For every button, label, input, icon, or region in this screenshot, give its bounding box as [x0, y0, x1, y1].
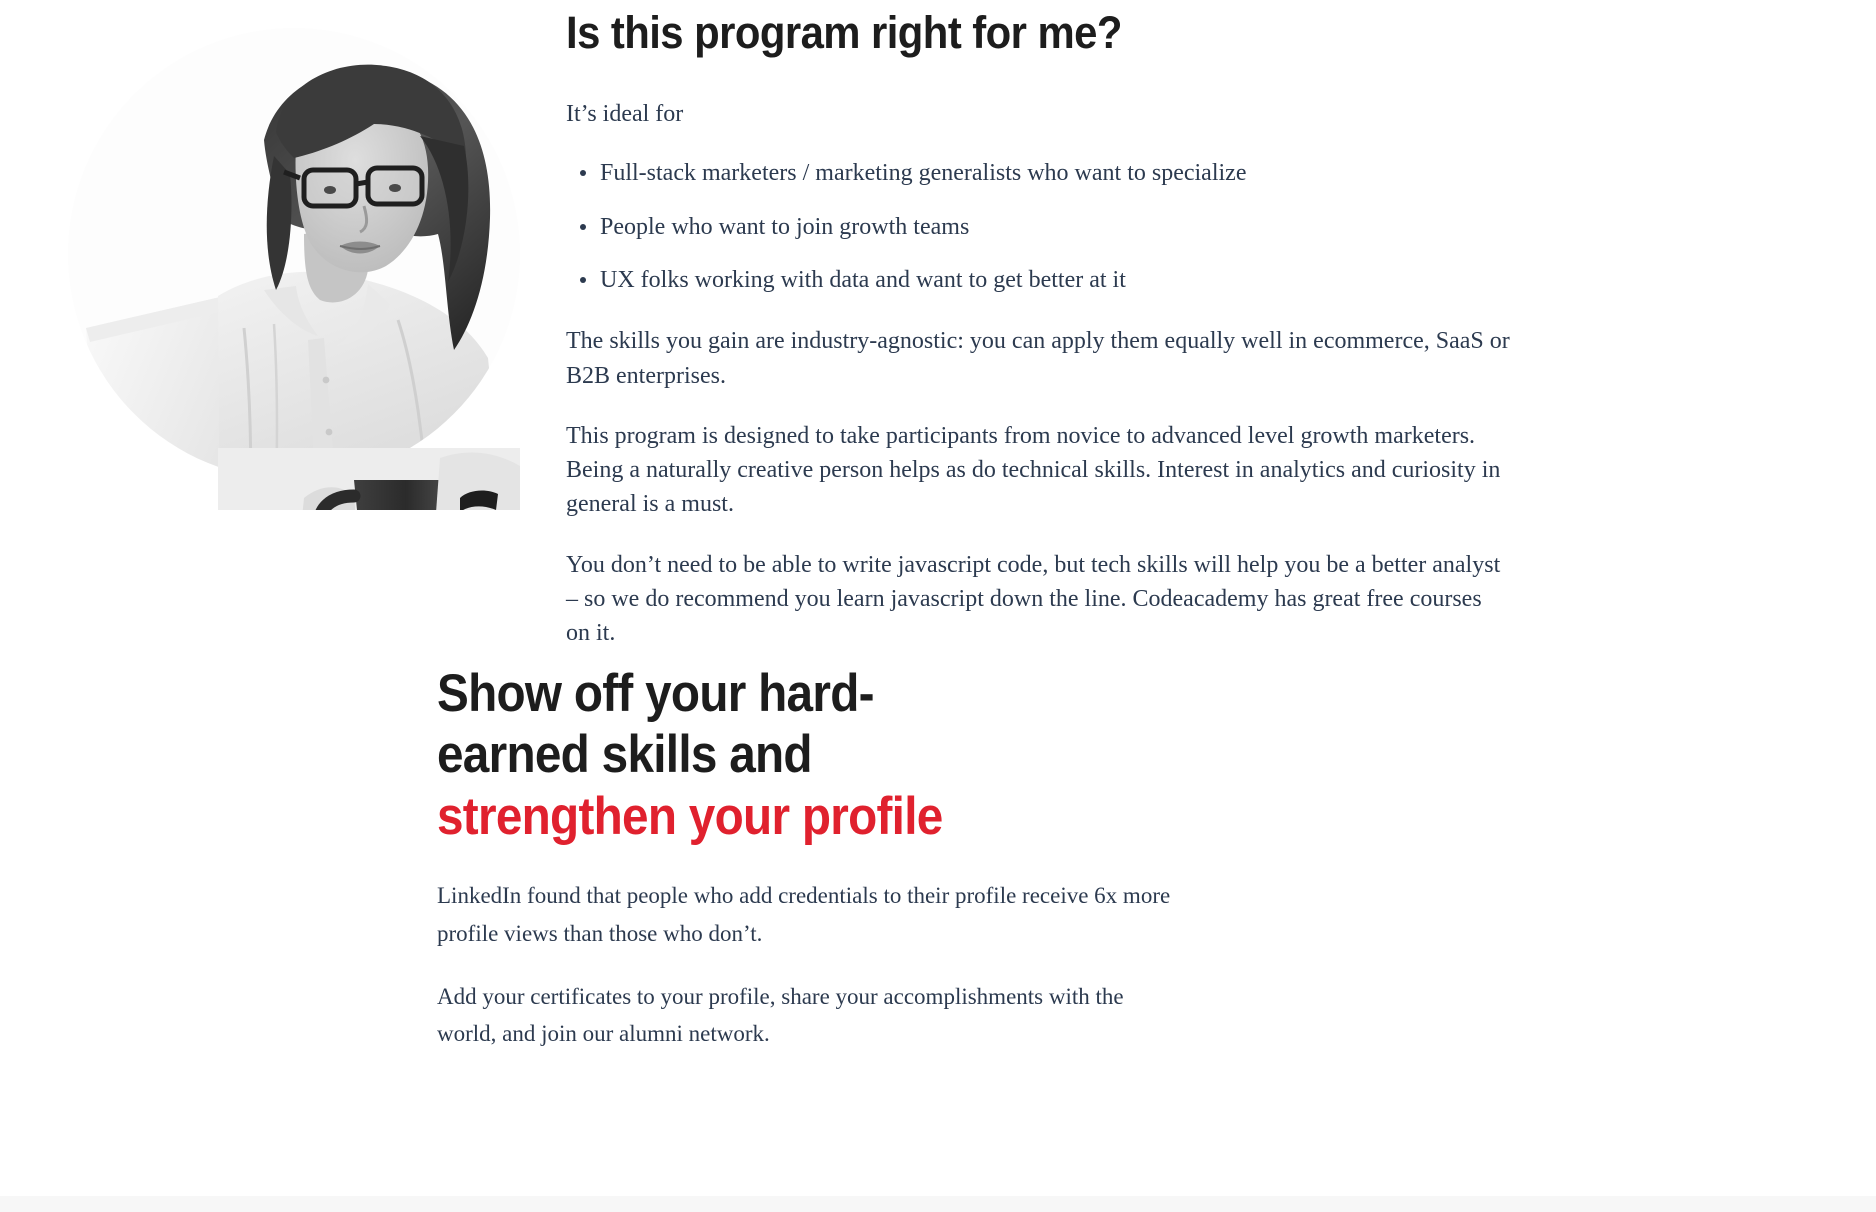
paragraph-industry-agnostic: The skills you gain are industry-agnosti… — [566, 324, 1511, 393]
ideal-for-label: It’s ideal for — [566, 97, 1526, 132]
paragraph-tech-skills: You don’t need to be able to write javas… — [566, 548, 1511, 651]
section-heading: Show off your hard-earned skills and str… — [437, 645, 1013, 847]
photo-circle-mask — [68, 28, 520, 480]
heading-text-plain: Show off your hard-earned skills and — [437, 664, 874, 784]
section-divider-band — [0, 1196, 1876, 1212]
paragraph-linkedin-stat: LinkedIn found that people who add crede… — [437, 877, 1177, 952]
photo-illustration-spill — [218, 448, 520, 510]
photo-illustration — [68, 28, 520, 480]
list-item: UX folks working with data and want to g… — [600, 263, 1526, 298]
show-off-skills-column: Show off your hard-earned skills and str… — [437, 645, 1217, 1052]
student-photo — [68, 28, 520, 510]
page-title: Is this program right for me? — [566, 0, 1459, 55]
paragraph-program-level: This program is designed to take partici… — [566, 419, 1511, 522]
show-off-skills-section: Show off your hard-earned skills and str… — [0, 645, 1876, 1212]
ideal-for-list: Full-stack marketers / marketing general… — [566, 156, 1526, 298]
program-fit-text-column: Is this program right for me? It’s ideal… — [566, 0, 1526, 651]
paragraph-add-certificates: Add your certificates to your profile, s… — [437, 978, 1177, 1053]
heading-text-accent: strengthen your profile — [437, 787, 943, 846]
photo-bottom-spill — [218, 448, 520, 510]
list-item: Full-stack marketers / marketing general… — [600, 156, 1526, 191]
program-fit-section: Is this program right for me? It’s ideal… — [0, 0, 1876, 640]
list-item: People who want to join growth teams — [600, 210, 1526, 245]
